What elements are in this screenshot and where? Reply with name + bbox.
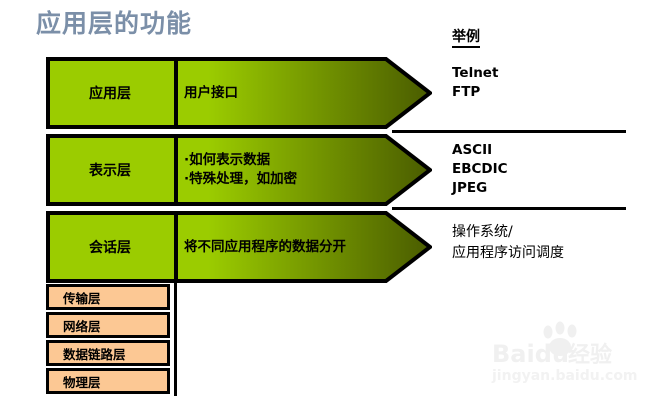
arrow-shape-icon <box>46 211 432 283</box>
layer-row-application: 应用层 用户接口 <box>46 57 432 129</box>
layer-box-transport[interactable]: 传输层 <box>46 284 170 310</box>
examples-column-heading: 举例 <box>452 29 480 48</box>
layer-box-label: 物理层 <box>63 372 101 391</box>
arrow-shape-icon <box>46 57 432 129</box>
watermark-url: jingyan.baidu.com <box>491 368 638 384</box>
layer-box-network[interactable]: 网络层 <box>46 312 170 338</box>
example-item: FTP <box>452 83 498 102</box>
example-item: ASCII <box>452 141 508 160</box>
layer-row-presentation: 表示层 ·如何表示数据 ·特殊处理，如加密 <box>46 134 432 206</box>
example-item: JPEG <box>452 179 508 198</box>
divider-rule-1 <box>392 130 626 133</box>
divider-rule-2 <box>392 207 626 210</box>
arrow-shape-icon <box>46 134 432 206</box>
watermark-sub: 经验 <box>568 342 612 368</box>
page-title: 应用层的功能 <box>36 4 192 40</box>
layer-box-label: 网络层 <box>63 316 101 335</box>
layer-box-label: 数据链路层 <box>63 344 126 363</box>
layer-box-datalink[interactable]: 数据链路层 <box>46 340 170 366</box>
layer-row-session: 会话层 将不同应用程序的数据分开 <box>46 211 432 283</box>
example-item: 操作系统/ <box>452 222 564 243</box>
baidu-logo-icon: Baidu 经验 jingyan.baidu.com <box>490 320 640 392</box>
examples-application: Telnet FTP <box>452 64 498 102</box>
layer-box-label: 传输层 <box>63 288 101 307</box>
slide-canvas: 应用层的功能 举例 应用层 用户接口 Telnet FTP <box>0 0 646 400</box>
layer-box-physical[interactable]: 物理层 <box>46 368 170 394</box>
examples-session: 操作系统/ 应用程序访问调度 <box>452 222 564 264</box>
example-item: EBCDIC <box>452 160 508 179</box>
watermark-brand: Baidu <box>492 340 569 368</box>
example-item: Telnet <box>452 64 498 83</box>
vertical-connector-line <box>174 282 177 396</box>
examples-presentation: ASCII EBCDIC JPEG <box>452 141 508 198</box>
example-item: 应用程序访问调度 <box>452 243 564 264</box>
baidu-watermark: Baidu 经验 jingyan.baidu.com <box>490 320 640 392</box>
